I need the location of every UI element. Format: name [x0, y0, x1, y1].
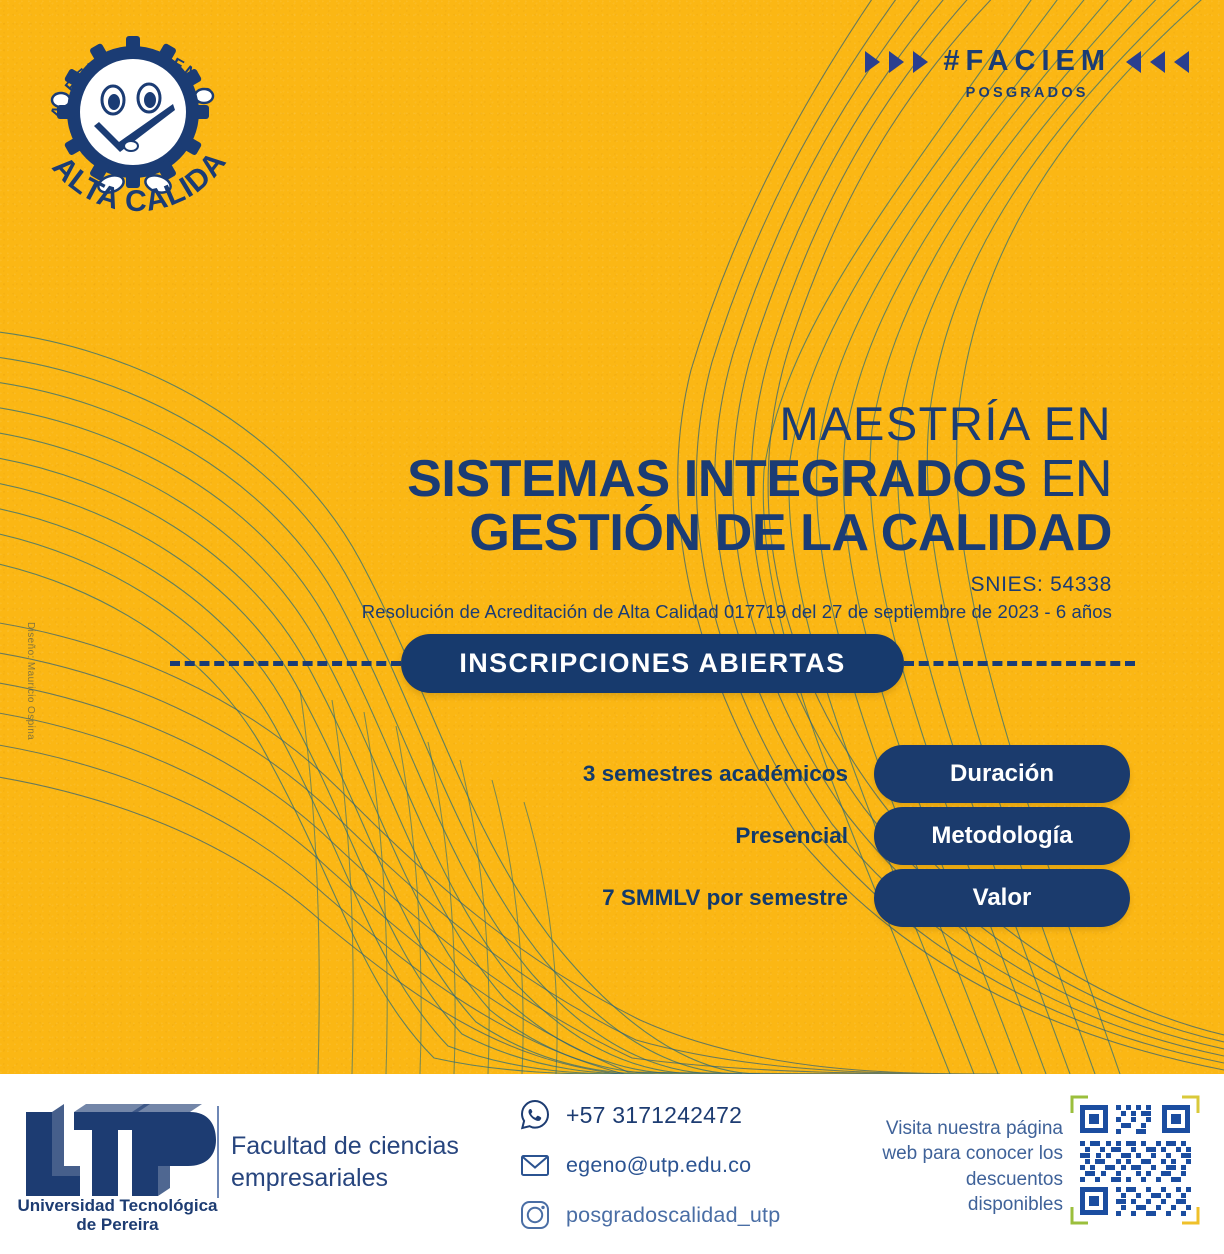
accreditation-resolution: Resolución de Acreditación de Alta Calid… — [212, 601, 1112, 623]
whatsapp-number: +57 3171242472 — [566, 1102, 742, 1129]
fact-value: 3 semestres académicos — [583, 761, 848, 787]
triangle-left-icon — [1126, 51, 1141, 73]
university-name: Universidad Tecnológica de Pereira — [10, 1196, 225, 1234]
triangle-left-icon — [1150, 51, 1165, 73]
triangle-right-icon — [865, 51, 880, 73]
fact-row-valor: 7 SMMLV por semestre Valor — [500, 869, 1130, 927]
title-main-line-2: GESTIÓN DE LA CALIDAD — [212, 507, 1112, 560]
title-main-light: EN — [1041, 450, 1112, 508]
contact-row-email[interactable]: egeno@utp.edu.co — [518, 1140, 780, 1190]
university-name-line1: Universidad Tecnológica — [10, 1196, 225, 1215]
contact-row-instagram[interactable]: posgradoscalidad_utp — [518, 1190, 780, 1240]
university-name-line2: de Pereira — [10, 1215, 225, 1234]
triangle-right-icon — [913, 51, 928, 73]
instagram-handle: posgradoscalidad_utp — [566, 1203, 780, 1228]
qr-note-line2: web para conocer los — [868, 1141, 1063, 1166]
faciem-brand-header: #FACIEM POSGRADOS — [865, 45, 1189, 101]
snies-code: SNIES: 54338 — [212, 573, 1112, 597]
qr-note-line1: Visita nuestra página — [868, 1116, 1063, 1141]
email-icon — [518, 1148, 552, 1182]
fact-row-metodologia: Presencial Metodología — [500, 807, 1130, 865]
qr-note-line3: descuentos disponibles — [868, 1167, 1063, 1218]
designer-watermark: Diseño: Mauricio Ospina — [25, 622, 36, 740]
faculty-name: Facultad de ciencias empresariales — [231, 1130, 459, 1194]
triangle-left-icon — [1174, 51, 1189, 73]
contact-row-whatsapp[interactable]: +57 3171242472 — [518, 1090, 780, 1140]
instagram-icon — [518, 1198, 552, 1232]
fact-value: 7 SMMLV por semestre — [602, 885, 848, 911]
qr-instruction-text: Visita nuestra página web para conocer l… — [868, 1116, 1063, 1217]
inscriptions-banner: INSCRIPCIONES ABIERTAS — [170, 632, 1135, 694]
contact-list: +57 3171242472 egeno@utp.edu.co posgrado… — [518, 1090, 780, 1240]
title-main-line-1: SISTEMAS INTEGRADOS EN — [212, 451, 1112, 507]
alta-calidad-seal-icon: ACREDITADO EN — [18, 12, 248, 217]
triangle-right-icon — [889, 51, 904, 73]
faculty-line1: Facultad de ciencias — [231, 1130, 459, 1162]
faciem-hashtag: #FACIEM — [937, 45, 1117, 78]
title-degree-line: MAESTRÍA EN — [212, 400, 1112, 447]
poster-canvas: ACREDITADO EN — [0, 0, 1224, 1074]
program-facts-list: 3 semestres académicos Duración Presenci… — [500, 745, 1130, 931]
vertical-divider — [217, 1106, 219, 1198]
fact-label-pill: Duración — [874, 745, 1130, 803]
footer-bar: Universidad Tecnológica de Pereira Facul… — [0, 1074, 1224, 1254]
program-title-block: MAESTRÍA EN SISTEMAS INTEGRADOS EN GESTI… — [212, 400, 1112, 623]
fact-label-pill: Metodología — [874, 807, 1130, 865]
fact-value: Presencial — [735, 823, 848, 849]
fact-label-pill: Valor — [874, 869, 1130, 927]
title-main-bold: SISTEMAS INTEGRADOS — [407, 450, 1026, 508]
fact-row-duracion: 3 semestres académicos Duración — [500, 745, 1130, 803]
dashed-line-left — [170, 661, 401, 666]
qr-code-icon[interactable] — [1068, 1093, 1202, 1227]
inscriptions-open-pill[interactable]: INSCRIPCIONES ABIERTAS — [401, 634, 903, 693]
faculty-line2: empresariales — [231, 1162, 459, 1194]
email-address: egeno@utp.edu.co — [566, 1153, 751, 1178]
faciem-subtitle: POSGRADOS — [865, 85, 1189, 101]
whatsapp-icon — [518, 1098, 552, 1132]
dashed-line-right — [904, 661, 1135, 666]
